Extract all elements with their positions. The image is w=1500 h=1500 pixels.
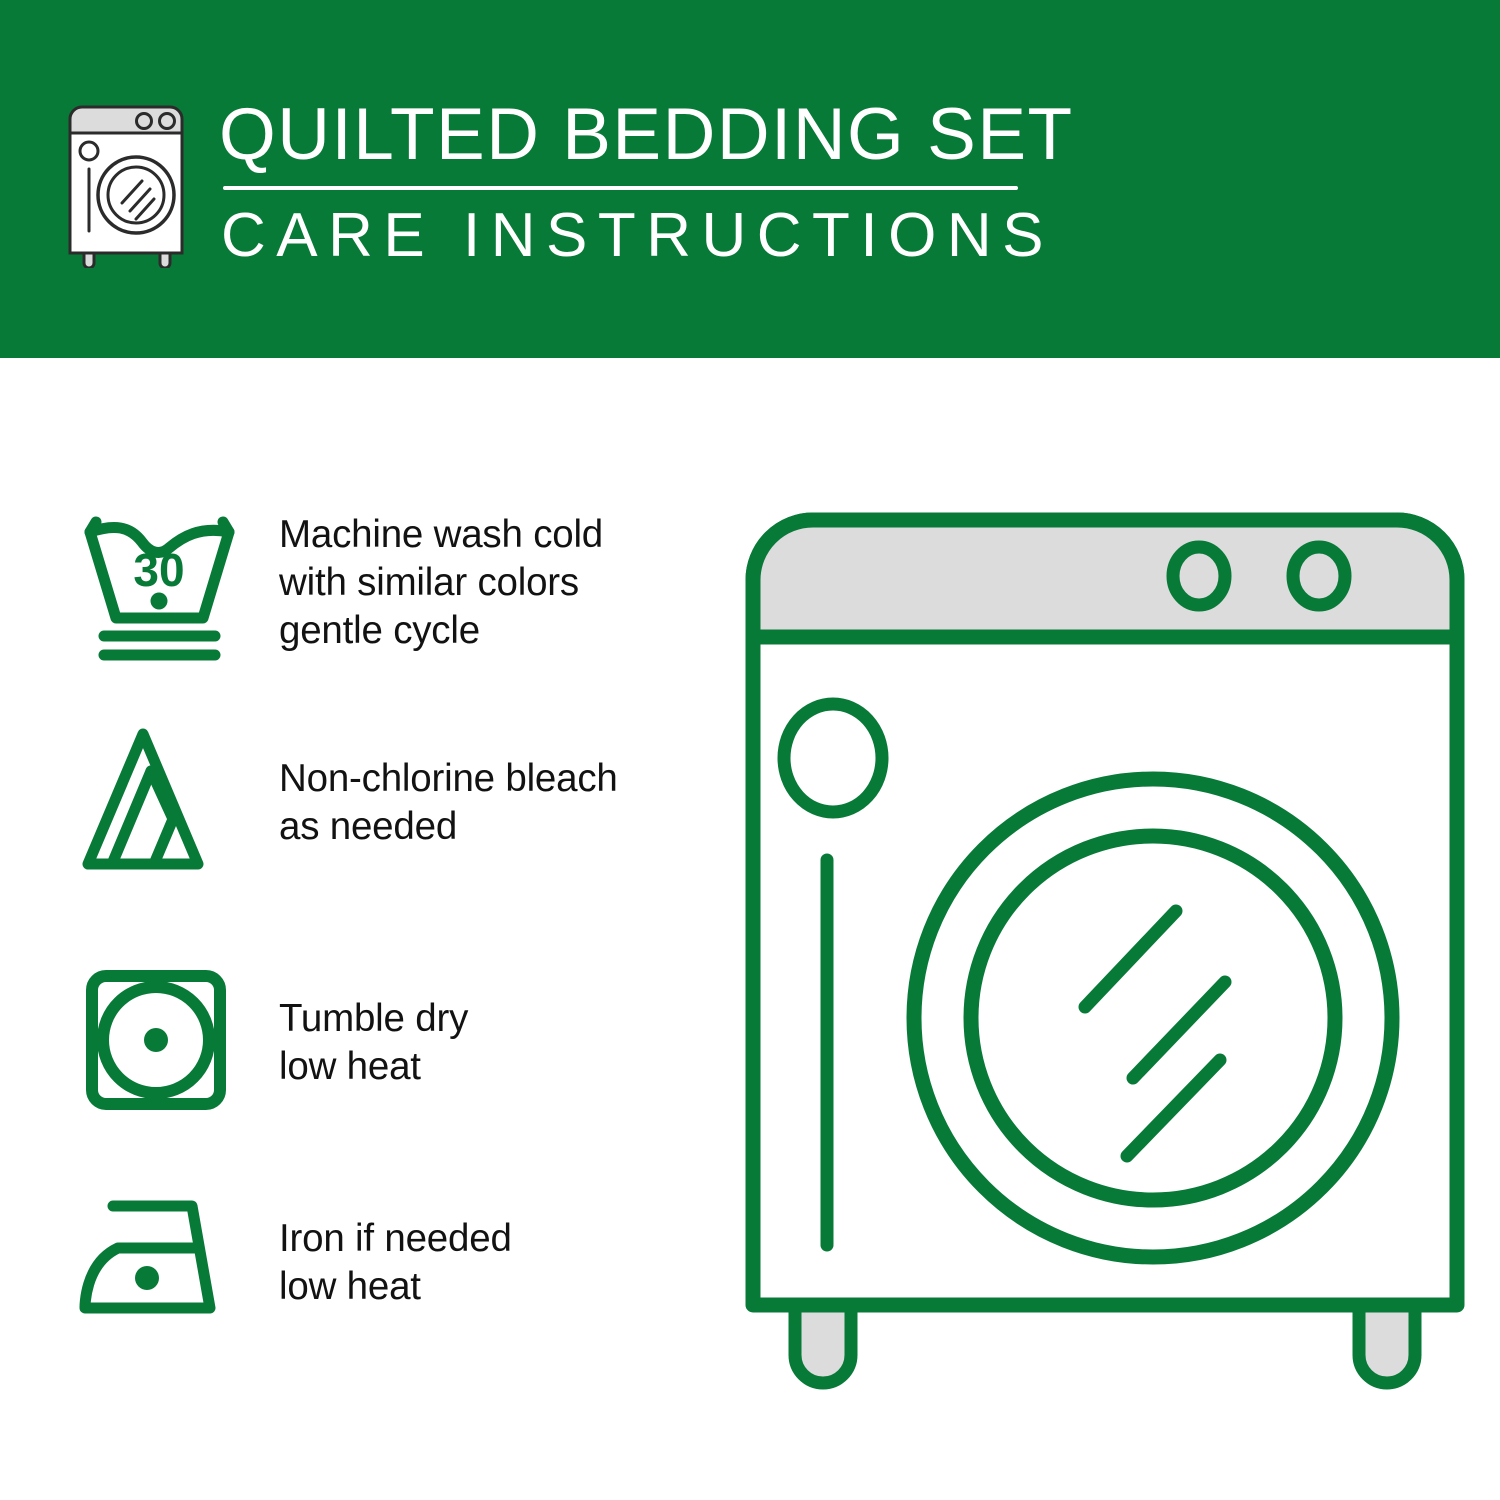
care-label-wash-line-3: gentle cycle: [279, 607, 603, 655]
washing-machine-icon: [62, 103, 202, 268]
care-label-wash: Machine wash cold with similar colors ge…: [279, 511, 603, 655]
care-label-bleach: Non-chlorine bleach as needed: [279, 755, 618, 851]
care-label-wash-line-2: with similar colors: [279, 559, 603, 607]
care-label-tumble-dry-line-2: low heat: [279, 1043, 468, 1091]
header-inner: QUILTED BEDDING SET CARE INSTRUCTIONS: [62, 95, 1062, 275]
wash-tub-30-gentle-icon: 30: [72, 498, 247, 668]
header-text-block: QUILTED BEDDING SET CARE INSTRUCTIONS: [215, 95, 1075, 270]
header-band: QUILTED BEDDING SET CARE INSTRUCTIONS: [0, 0, 1500, 358]
care-label-wash-line-1: Machine wash cold: [279, 511, 603, 559]
wash-temp-value: 30: [133, 544, 184, 596]
care-row-tumble-dry: Tumble dry low heat: [0, 958, 720, 1128]
page-title: QUILTED BEDDING SET: [215, 95, 1075, 175]
front-load-washing-machine-illustration: [735, 470, 1475, 1450]
tumble-dry-low-icon: [72, 958, 247, 1128]
care-label-iron-line-2: low heat: [279, 1263, 512, 1311]
care-label-tumble-dry-line-1: Tumble dry: [279, 995, 468, 1043]
care-label-iron-line-1: Iron if needed: [279, 1215, 512, 1263]
non-chlorine-bleach-triangle-icon: [72, 718, 247, 888]
page-subtitle: CARE INSTRUCTIONS: [215, 202, 1075, 270]
care-label-tumble-dry: Tumble dry low heat: [279, 995, 468, 1091]
care-instructions-page: QUILTED BEDDING SET CARE INSTRUCTIONS 30: [0, 0, 1500, 1500]
care-instruction-list: 30 Machine wash cold with similar colors…: [0, 358, 720, 1500]
care-label-bleach-line-2: as needed: [279, 803, 618, 851]
care-row-bleach: Non-chlorine bleach as needed: [0, 718, 720, 888]
care-row-iron: Iron if needed low heat: [0, 1178, 720, 1348]
title-divider: [223, 186, 1018, 190]
care-label-bleach-line-1: Non-chlorine bleach: [279, 755, 618, 803]
iron-low-heat-icon: [72, 1178, 247, 1348]
care-row-wash: 30 Machine wash cold with similar colors…: [0, 498, 720, 668]
care-label-iron: Iron if needed low heat: [279, 1215, 512, 1311]
